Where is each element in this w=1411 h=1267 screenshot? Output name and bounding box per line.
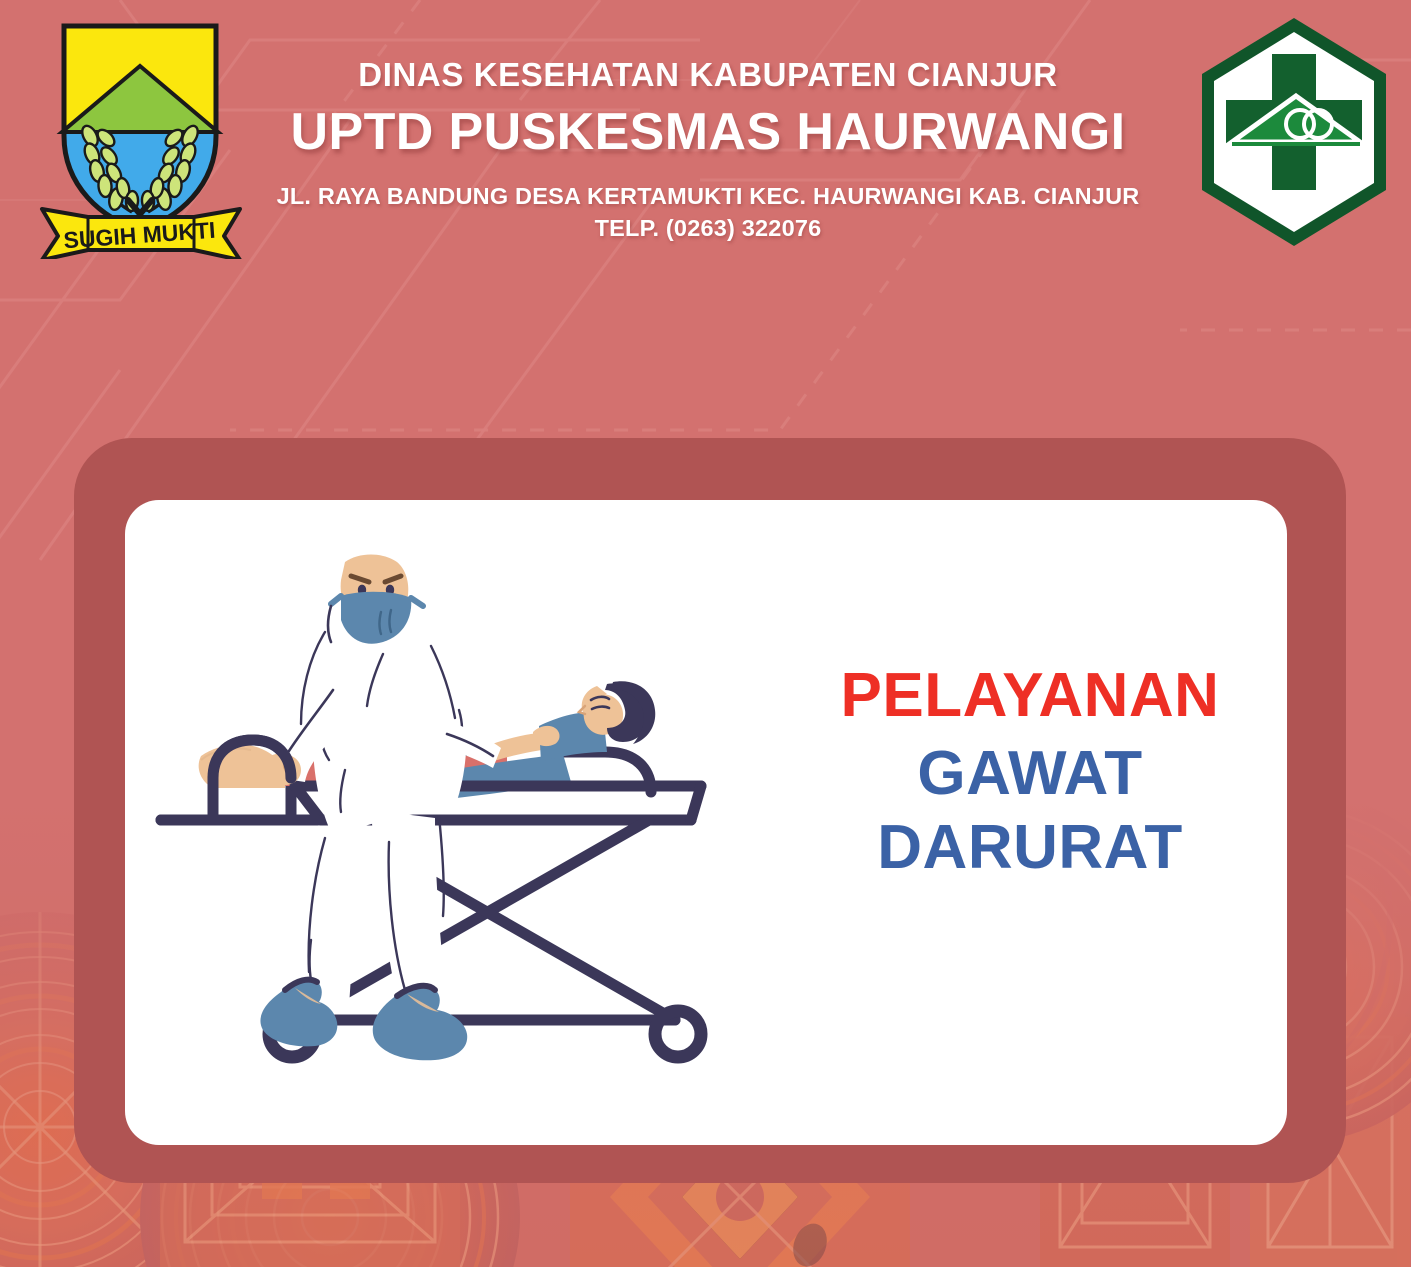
header-titles: DINAS KESEHATAN KABUPATEN CIANJUR UPTD P… bbox=[258, 58, 1158, 244]
paramedic-pushing-stretcher-illustration bbox=[135, 520, 735, 1130]
cianjur-regency-crest-icon: SUGIH MUKTI bbox=[28, 14, 253, 259]
poster-stage: SUGIH MUKTI DINAS KESEHATAN KABUPATEN CI… bbox=[0, 0, 1411, 1267]
address-line: JL. RAYA BANDUNG DESA KERTAMUKTI KEC. HA… bbox=[258, 181, 1158, 213]
headline-pelayanan: PELAYANAN bbox=[785, 665, 1275, 727]
facility-line: UPTD PUSKESMAS HAURWANGI bbox=[258, 103, 1158, 163]
phone-line: TELP. (0263) 322076 bbox=[258, 213, 1158, 245]
service-headline: PELAYANAN GAWAT DARURAT bbox=[785, 665, 1275, 879]
poster-header: SUGIH MUKTI DINAS KESEHATAN KABUPATEN CI… bbox=[0, 0, 1411, 275]
headline-darurat: DARURAT bbox=[785, 817, 1275, 879]
headline-gawat: GAWAT bbox=[785, 743, 1275, 805]
puskesmas-green-cross-hexagon-icon bbox=[1196, 12, 1392, 252]
organization-line: DINAS KESEHATAN KABUPATEN CIANJUR bbox=[258, 58, 1158, 91]
content-card: PELAYANAN GAWAT DARURAT bbox=[125, 500, 1287, 1145]
